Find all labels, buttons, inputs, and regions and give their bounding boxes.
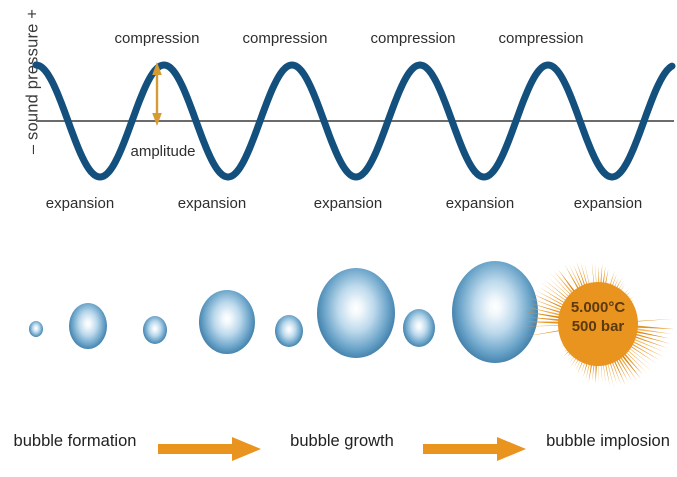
implosion-pressure: 500 bar bbox=[519, 317, 677, 336]
label-expansion-3: expansion bbox=[314, 195, 382, 212]
bubble-5 bbox=[275, 315, 303, 347]
amplitude-arrow bbox=[152, 62, 162, 126]
stage-label-bubble-implosion: bubble implosion bbox=[546, 432, 670, 451]
amplitude-label: amplitude bbox=[130, 143, 195, 160]
process-stage-row: bubble formation bubble growth bubble im… bbox=[0, 420, 677, 477]
label-compression-1: compression bbox=[114, 30, 199, 47]
label-expansion-4: expansion bbox=[446, 195, 514, 212]
bubble-7 bbox=[403, 309, 435, 347]
cavitation-diagram: – sound pressure + compression compressi… bbox=[0, 0, 677, 477]
label-compression-3: compression bbox=[370, 30, 455, 47]
bubble-4 bbox=[199, 290, 255, 354]
implosion-conditions: 5.000°C 500 bar bbox=[519, 298, 677, 336]
label-expansion-2: expansion bbox=[178, 195, 246, 212]
bubble-3 bbox=[143, 316, 167, 344]
label-compression-4: compression bbox=[498, 30, 583, 47]
implosion-temperature: 5.000°C bbox=[519, 298, 677, 317]
stage-label-bubble-formation: bubble formation bbox=[14, 432, 137, 451]
sound-pressure-wave-chart: – sound pressure + compression compressi… bbox=[0, 0, 677, 232]
arrow-formation-to-growth-icon bbox=[158, 436, 262, 462]
bubble-6 bbox=[317, 268, 395, 358]
bubble-1 bbox=[29, 321, 43, 337]
label-expansion-1: expansion bbox=[46, 195, 114, 212]
label-compression-2: compression bbox=[242, 30, 327, 47]
label-expansion-5: expansion bbox=[574, 195, 642, 212]
bubble-2 bbox=[69, 303, 107, 349]
stage-label-bubble-growth: bubble growth bbox=[290, 432, 394, 451]
arrow-growth-to-implosion-icon bbox=[423, 436, 527, 462]
bubble-implosion-burst: 5.000°C 500 bar bbox=[519, 238, 677, 410]
